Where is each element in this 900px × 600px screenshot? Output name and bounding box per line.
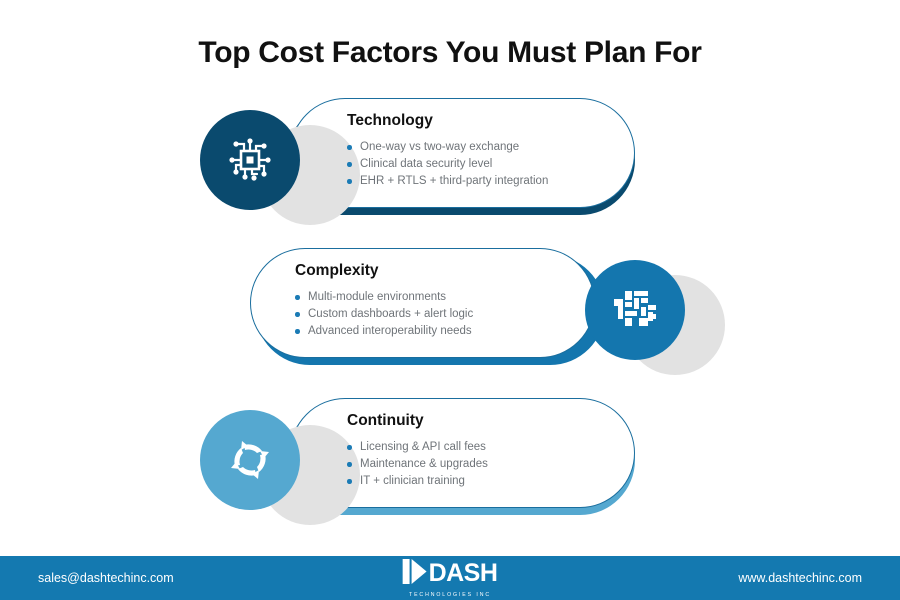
dash-logo: DASH TECHNOLOGIES INC	[403, 559, 498, 598]
list-item: IT + clinician training	[347, 473, 488, 490]
footer-website[interactable]: www.dashtechinc.com	[738, 571, 862, 585]
card-heading: Technology	[347, 112, 548, 130]
maze-puzzle-icon	[610, 285, 660, 335]
card-body-complexity: Complexity Multi-module environments Cus…	[295, 262, 473, 340]
list-item: Multi-module environments	[295, 289, 473, 306]
icon-circle-technology	[200, 110, 300, 210]
footer-bar: sales@dashtechinc.com DASH TECHNOLOGIES …	[0, 556, 900, 600]
logo-d-glyph-icon	[403, 559, 429, 589]
list-item: Maintenance & upgrades	[347, 456, 488, 473]
bullet-list: Licensing & API call fees Maintenance & …	[347, 439, 488, 490]
icon-circle-complexity	[585, 260, 685, 360]
list-item: Licensing & API call fees	[347, 439, 488, 456]
recycle-loop-arrows-icon	[224, 434, 276, 486]
logo-mark: DASH	[403, 559, 498, 589]
card-heading: Complexity	[295, 262, 473, 280]
bullet-list: Multi-module environments Custom dashboa…	[295, 289, 473, 340]
icon-circle-continuity	[200, 410, 300, 510]
microchip-circuit-icon	[224, 134, 276, 186]
bullet-list: One-way vs two-way exchange Clinical dat…	[347, 139, 548, 190]
list-item: Clinical data security level	[347, 156, 548, 173]
card-body-continuity: Continuity Licensing & API call fees Mai…	[347, 412, 488, 490]
card-body-technology: Technology One-way vs two-way exchange C…	[347, 112, 548, 190]
list-item: EHR + RTLS + third-party integration	[347, 173, 548, 190]
page-title: Top Cost Factors You Must Plan For	[0, 36, 900, 70]
list-item: One-way vs two-way exchange	[347, 139, 548, 156]
list-item: Advanced interoperability needs	[295, 323, 473, 340]
logo-tagline: TECHNOLOGIES INC	[409, 592, 491, 598]
footer-email[interactable]: sales@dashtechinc.com	[38, 571, 174, 585]
logo-wordmark: DASH	[429, 561, 498, 586]
card-heading: Continuity	[347, 412, 488, 430]
list-item: Custom dashboards + alert logic	[295, 306, 473, 323]
